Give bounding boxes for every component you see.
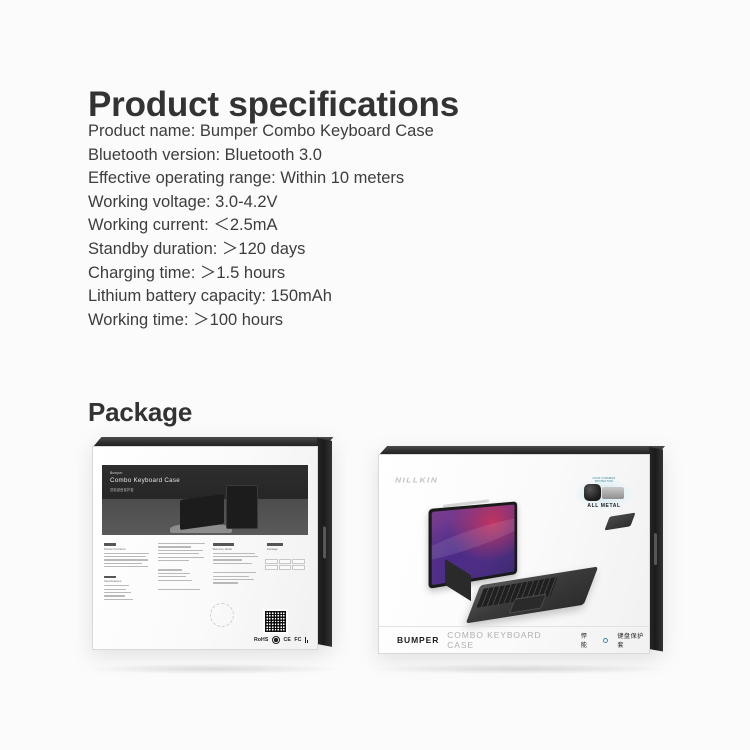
fine-print-line (158, 550, 202, 551)
fine-print-line (158, 573, 189, 574)
fine-print-label: Warranty Detail (213, 548, 260, 551)
fine-print-heading (213, 543, 235, 546)
table-cell (265, 565, 278, 570)
package-images: Bumper Combo Keyboard Case 您能键盘保护套 Produ… (0, 430, 750, 690)
banner-title-text: Combo Keyboard Case (110, 477, 180, 484)
fine-print-heading (104, 543, 116, 546)
specification-list: Product name: Bumper Combo Keyboard Case… (88, 120, 608, 332)
fine-print-line (158, 569, 182, 570)
fine-print-gap (104, 570, 151, 576)
footer-bumper-text: BUMPER (397, 635, 439, 645)
package-section-title: Package (88, 397, 192, 428)
metal-plate-icon (602, 487, 624, 499)
table-cell (279, 559, 292, 564)
spec-item-range: Effective operating range: Within 10 met… (88, 167, 608, 191)
fine-print-line (213, 576, 249, 577)
fine-print-line (104, 592, 131, 593)
fine-print-line (104, 553, 149, 554)
spec-item-current: Working current: ＜2.5mA (88, 214, 608, 238)
fine-print-line (104, 566, 148, 567)
package-box-back: Bumper Combo Keyboard Case 您能键盘保护套 Produ… (92, 446, 318, 650)
badge-top-caption: FOUR CORNERS PROTECTION (593, 477, 616, 483)
tablet-device (429, 501, 518, 589)
table-cell (265, 559, 278, 564)
fine-print-line (104, 585, 129, 586)
table-cell (292, 559, 305, 564)
banner-product-right (226, 485, 258, 529)
box-front-face: NILLKIN FOUR CORNERS PROTECTION ALL META… (378, 454, 650, 654)
fine-print-line (104, 599, 133, 600)
certification-marks: RoHS CE FC (254, 636, 308, 644)
fcc-mark: FC (294, 637, 301, 643)
banner-brand-text: Bumper (110, 471, 180, 475)
spine-notch (323, 526, 326, 560)
corner-protection-icon (584, 484, 601, 501)
banner-subtitle-text: 您能键盘保护套 (110, 487, 180, 492)
package-back-shadow (88, 664, 338, 674)
package-front-shadow (372, 664, 668, 674)
product-specification-page: Product specifications Product name: Bum… (0, 0, 750, 750)
fine-print-line (158, 589, 200, 590)
box-spine (649, 447, 663, 651)
fine-print-line (158, 546, 191, 547)
badge-icons (584, 484, 624, 501)
fine-print-line (213, 572, 257, 573)
product-photo-banner: Bumper Combo Keyboard Case 您能键盘保护套 (102, 465, 308, 535)
fine-print-line (158, 543, 204, 544)
nillkin-logo: NILLKIN (395, 476, 438, 485)
spec-item-working-time: Working time: ＞100 hours (88, 309, 608, 333)
footer-chinese-right: 键盘保护套 (617, 631, 649, 649)
fine-print-column-2 (158, 543, 205, 641)
fine-print-label: Product functions (104, 548, 151, 551)
fine-print-line (158, 553, 199, 554)
spec-item-bluetooth: Bluetooth version: Bluetooth 3.0 (88, 144, 608, 168)
fine-print-heading (267, 543, 283, 546)
fine-print-line (213, 579, 255, 580)
spec-item-voltage: Working voltage: 3.0-4.2V (88, 191, 608, 215)
barcode-icon (305, 637, 308, 643)
package-contents-table (265, 559, 305, 571)
banner-label: Bumper Combo Keyboard Case 您能键盘保护套 (110, 471, 180, 492)
spec-item-battery: Lithium battery capacity: 150mAh (88, 285, 608, 309)
fine-print-line (213, 556, 258, 557)
fine-print-line (213, 559, 242, 560)
qr-code (264, 610, 287, 633)
spec-item-charging-time: Charging time: ＞1.5 hours (88, 262, 608, 286)
rohs-mark: RoHS (254, 637, 269, 643)
banner-product-left (180, 494, 224, 530)
box-spine (317, 438, 332, 647)
fine-print-line (104, 563, 142, 564)
package-box-front: NILLKIN FOUR CORNERS PROTECTION ALL META… (378, 454, 650, 654)
table-row (265, 565, 305, 570)
recycle-icon (272, 636, 280, 644)
keyboard-flap (604, 513, 635, 531)
spec-item-standby: Standby duration: ＞120 days (88, 238, 608, 262)
fine-print-line (213, 582, 239, 583)
ce-mark: CE (283, 637, 290, 643)
footer-chinese-left: 悍能 (581, 631, 594, 649)
product-render (421, 505, 611, 615)
fine-print-line (104, 559, 148, 560)
footer-combo-text: COMBO KEYBOARD CASE (447, 630, 567, 650)
fine-print-column-1: Product functions Specifications (104, 543, 151, 641)
fine-print-line (213, 553, 256, 554)
table-cell (292, 565, 305, 570)
table-row (265, 559, 305, 564)
table-cell (279, 565, 292, 570)
fine-print-heading (104, 576, 116, 579)
fine-print-label: Package (267, 548, 307, 551)
fine-print-label: Specifications (104, 580, 151, 583)
fine-print-line (104, 589, 126, 590)
fine-print-line (158, 576, 185, 577)
fine-print-line (104, 595, 125, 596)
fine-print-line (158, 557, 203, 558)
spine-notch (654, 533, 657, 566)
fine-print-line (158, 560, 188, 561)
fine-print-line (104, 556, 146, 557)
front-footer: BUMPER COMBO KEYBOARD CASE 悍能 键盘保护套 (379, 626, 649, 653)
diagram-circle (210, 603, 234, 627)
bullet-dot-icon (603, 638, 608, 643)
box-back-face: Bumper Combo Keyboard Case 您能键盘保护套 Produ… (92, 446, 318, 650)
fine-print-line (158, 580, 192, 581)
spec-item-product-name: Product name: Bumper Combo Keyboard Case (88, 120, 608, 144)
fine-print-line (213, 563, 253, 564)
